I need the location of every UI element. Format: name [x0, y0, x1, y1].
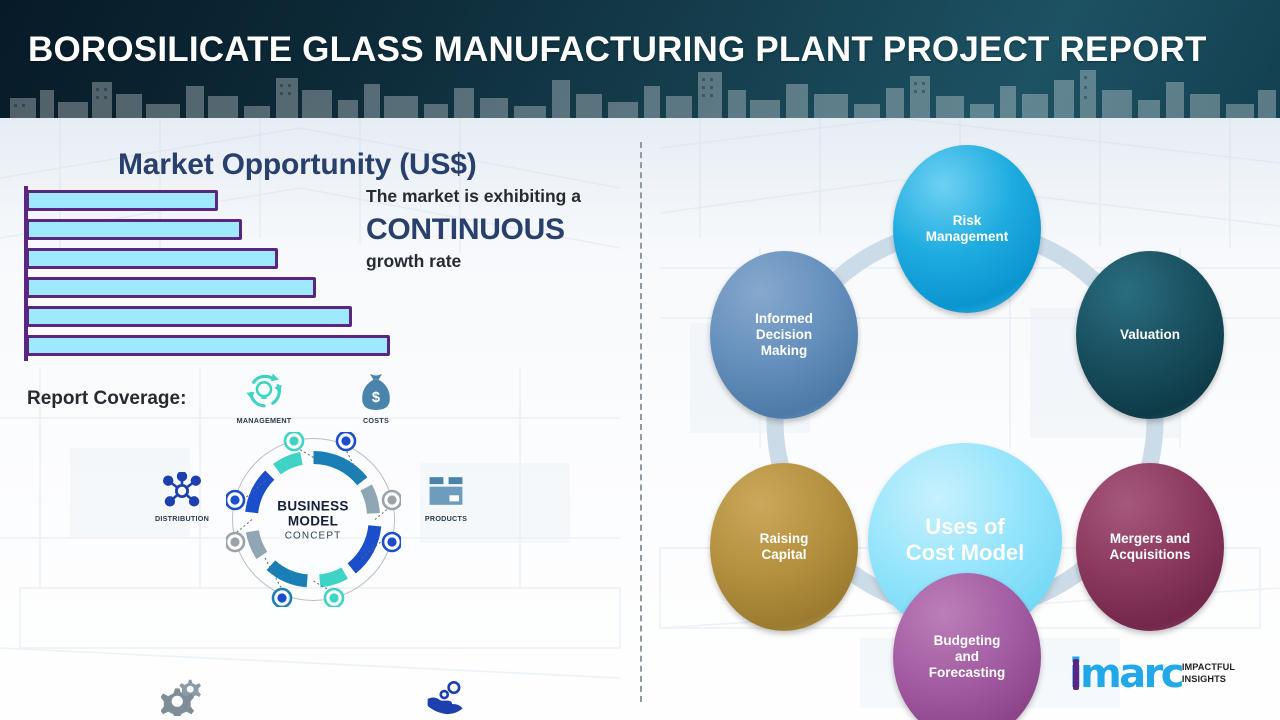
- market-opportunity-title: Market Opportunity (US$): [118, 148, 477, 182]
- logo-wordmark: imarc: [1069, 657, 1182, 691]
- bm-item-services: SERVICES: [136, 670, 228, 720]
- money-bag-icon: $: [330, 366, 422, 412]
- bm-label: PRODUCTS: [400, 514, 492, 523]
- bm-label: MANAGEMENT: [218, 416, 310, 425]
- growth-callout: The market is exhibiting a CONTINUOUS gr…: [366, 186, 636, 273]
- node-raising-capital: Raising Capital: [710, 463, 858, 631]
- node-line: Risk: [920, 213, 1015, 229]
- bm-label: DISTRIBUTION: [136, 514, 228, 523]
- node-line: Capital: [754, 547, 815, 563]
- node-line: Forecasting: [923, 665, 1012, 681]
- chart-bar: [26, 190, 218, 211]
- node-mergers-acquisitions: Mergers and Acquisitions: [1076, 463, 1224, 631]
- bm-item-distribution: DISTRIBUTION: [136, 464, 228, 523]
- bm-item-management: MANAGEMENT: [218, 366, 310, 425]
- chart-bar: [26, 219, 242, 240]
- node-line: Making: [749, 343, 819, 359]
- callout-line-2: CONTINUOUS: [366, 211, 636, 249]
- chart-bar: [26, 277, 316, 298]
- callout-line-1: The market is exhibiting a: [366, 186, 636, 208]
- node-informed-decision-making: Informed Decision Making: [710, 251, 858, 419]
- node-line: Decision: [749, 327, 819, 343]
- bm-item-products: PRODUCTS: [400, 464, 492, 523]
- hand-coins-icon: [400, 670, 492, 716]
- business-model-wheel: [226, 432, 401, 607]
- gears-icon: [136, 670, 228, 716]
- bm-item-costs: $ COSTS: [330, 366, 422, 425]
- node-line: and: [923, 649, 1012, 665]
- bm-label: COSTS: [330, 416, 422, 425]
- right-panel: Uses of Cost Model Risk Management Valua…: [640, 118, 1280, 720]
- recycle-bulb-icon: [218, 366, 310, 412]
- chart-bar: [26, 306, 352, 327]
- svg-text:$: $: [372, 390, 380, 406]
- logo-tagline-line-2: INSIGHTS: [1182, 674, 1235, 686]
- logo-tagline-line-1: IMPACTFUL: [1182, 662, 1235, 674]
- market-opportunity-bar-chart: [24, 186, 424, 361]
- network-nodes-icon: [136, 464, 228, 510]
- node-line: Management: [920, 229, 1015, 245]
- center-line-1: Uses of: [900, 514, 1031, 540]
- slide-header: BOROSILICATE GLASS MANUFACTURING PLANT P…: [0, 0, 1280, 118]
- node-valuation: Valuation: [1076, 251, 1224, 419]
- panel-divider: [640, 142, 642, 702]
- chart-bar: [26, 248, 278, 269]
- node-line: Acquisitions: [1103, 547, 1196, 563]
- node-line: Informed: [749, 311, 819, 327]
- node-line: Raising: [754, 531, 815, 547]
- node-risk-management: Risk Management: [893, 145, 1041, 313]
- slide-canvas: BOROSILICATE GLASS MANUFACTURING PLANT P…: [0, 0, 1280, 720]
- chart-bar: [26, 335, 390, 356]
- page-title: BOROSILICATE GLASS MANUFACTURING PLANT P…: [28, 30, 1207, 70]
- node-line: Valuation: [1114, 327, 1186, 343]
- business-model-diagram: BUSINESS MODEL CONCEPT MANAGEMENT: [148, 370, 478, 710]
- bm-item-revenue: REVENUE: [400, 670, 492, 720]
- logo-divider: [1073, 659, 1079, 690]
- left-panel: Market Opportunity (US$) The market is e…: [0, 118, 640, 720]
- node-line: Mergers and: [1103, 531, 1196, 547]
- imarc-logo: imarc IMPACTFUL INSIGHTS: [1069, 657, 1235, 691]
- callout-line-3: growth rate: [366, 250, 636, 273]
- node-line: Budgeting: [923, 633, 1012, 649]
- box-icon: [400, 464, 492, 510]
- center-line-2: Cost Model: [900, 540, 1031, 566]
